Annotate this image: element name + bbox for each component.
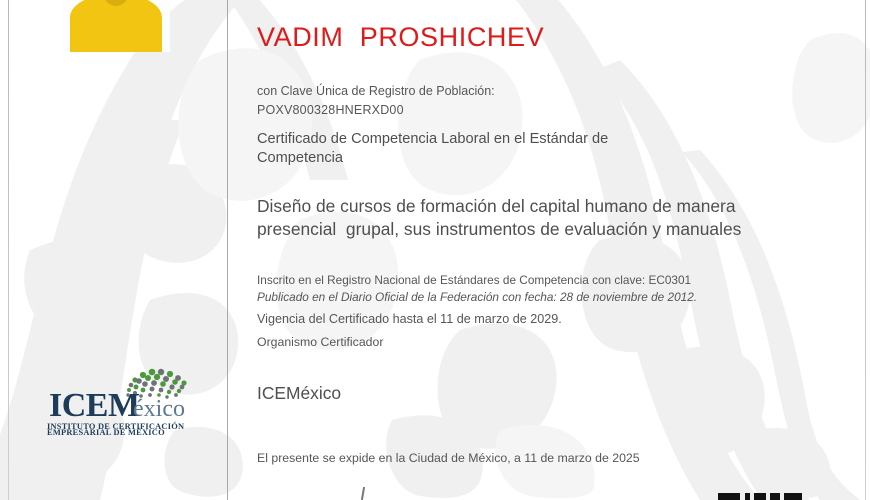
content-column: VADIM PROSHICHEV con Clave Única de Regi…	[257, 0, 857, 500]
svg-text:ICEM: ICEM	[49, 387, 140, 424]
curp-value: POXV800328HNERXD00	[257, 103, 404, 117]
competency-standard-title: Diseño de cursos de formación del capita…	[257, 195, 782, 241]
column-divider	[227, 0, 228, 500]
holder-photo	[62, 0, 170, 52]
holder-name: VADIM PROSHICHEV	[257, 22, 544, 53]
official-gazette-line: Publicado en el Diario Oficial de la Fed…	[257, 290, 697, 304]
certificate-page: ICEM éxico INSTITUTO DE CERTIFICACIÓN EM…	[0, 0, 870, 500]
svg-text:éxico: éxico	[133, 396, 185, 422]
curp-label: con Clave Única de Registro de Población…	[257, 84, 495, 98]
registry-line: Inscrito en el Registro Nacional de Está…	[257, 273, 691, 287]
icemexico-logo: ICEM éxico INSTITUTO DE CERTIFICACIÓN EM…	[47, 364, 199, 438]
left-column: ICEM éxico INSTITUTO DE CERTIFICACIÓN EM…	[9, 0, 227, 500]
issuance-line: El presente se expide en la Ciudad de Mé…	[257, 451, 640, 465]
certifier-label: Organismo Certificador	[257, 335, 383, 349]
certifier-name: ICEMéxico	[257, 383, 341, 404]
page-border-right	[865, 0, 866, 500]
qr-code-peek	[718, 493, 802, 500]
icemexico-logo-mark: ICEM éxico	[47, 364, 199, 426]
validity-line: Vigencia del Certificado hasta el 11 de …	[257, 312, 562, 326]
certificate-heading: Certificado de Competencia Laboral en el…	[257, 130, 677, 168]
